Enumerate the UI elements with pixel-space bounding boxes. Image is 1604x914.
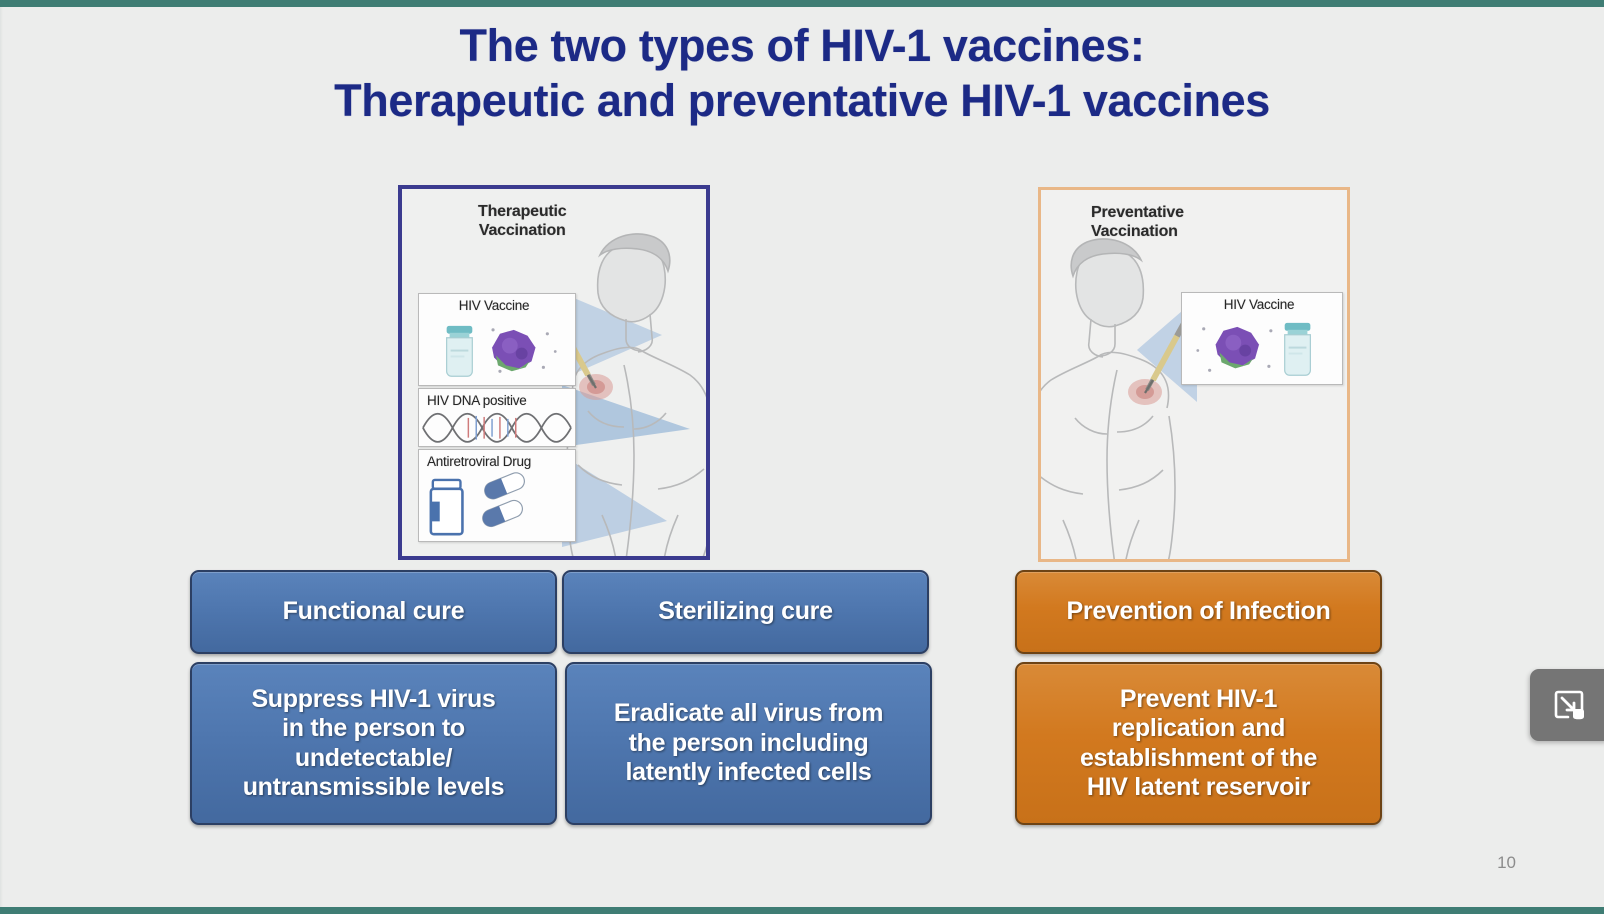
info-box-antiretroviral-drug: Antiretroviral Drug — [418, 449, 576, 542]
pill-bottle-and-capsules-icon — [419, 472, 575, 541]
title-line-1: The two types of HIV-1 vaccines: — [0, 19, 1604, 74]
vial-and-virus-icon — [419, 316, 575, 385]
slide-canvas: The two types of HIV-1 vaccines: Therape… — [0, 7, 1604, 907]
info-box-label: Antiretroviral Drug — [419, 450, 575, 470]
callout-body: Prevent HIV-1 replication and establishm… — [1080, 685, 1317, 803]
title-line-2: Therapeutic and preventative HIV-1 vacci… — [0, 74, 1604, 129]
callout-heading: Sterilizing cure — [658, 597, 832, 627]
callout-functional-cure-description[interactable]: Suppress HIV-1 virus in the person to un… — [190, 662, 557, 825]
info-box-label: HIV Vaccine — [1182, 293, 1342, 313]
slide-number: 10 — [1497, 853, 1516, 873]
picture-in-picture-button[interactable] — [1530, 669, 1604, 741]
picture-in-picture-icon — [1549, 685, 1589, 725]
human-body-illustration — [1038, 220, 1203, 562]
callout-heading: Functional cure — [283, 597, 465, 627]
callout-prevention-of-infection[interactable]: Prevention of Infection — [1015, 570, 1382, 654]
callout-functional-cure[interactable]: Functional cure — [190, 570, 557, 654]
callout-prevention-description[interactable]: Prevent HIV-1 replication and establishm… — [1015, 662, 1382, 825]
callout-sterilizing-cure[interactable]: Sterilizing cure — [562, 570, 929, 654]
info-box-hiv-vaccine: HIV Vaccine — [1181, 292, 1343, 385]
dna-helix-icon — [419, 411, 575, 445]
therapeutic-vaccination-panel: Therapeutic Vaccination HIV Vaccine — [398, 185, 710, 560]
callout-body: Suppress HIV-1 virus in the person to un… — [243, 685, 505, 803]
preventative-panel-title: Preventative Vaccination — [1091, 204, 1184, 242]
page-title: The two types of HIV-1 vaccines: Therape… — [0, 19, 1604, 129]
callout-body: Eradicate all virus from the person incl… — [614, 699, 883, 788]
virus-and-vial-icon — [1182, 315, 1342, 384]
presentation-frame: The two types of HIV-1 vaccines: Therape… — [0, 0, 1604, 914]
info-box-label: HIV Vaccine — [419, 294, 575, 314]
info-box-label: HIV DNA positive — [419, 389, 575, 409]
callout-heading: Prevention of Infection — [1067, 597, 1331, 627]
info-box-hiv-dna-positive: HIV DNA positive — [418, 388, 576, 447]
callout-sterilizing-cure-description[interactable]: Eradicate all virus from the person incl… — [565, 662, 932, 825]
info-box-hiv-vaccine: HIV Vaccine — [418, 293, 576, 386]
therapeutic-panel-title: Therapeutic Vaccination — [478, 203, 567, 241]
preventative-vaccination-panel: Preventative Vaccination HIV Vaccine — [1038, 187, 1350, 562]
